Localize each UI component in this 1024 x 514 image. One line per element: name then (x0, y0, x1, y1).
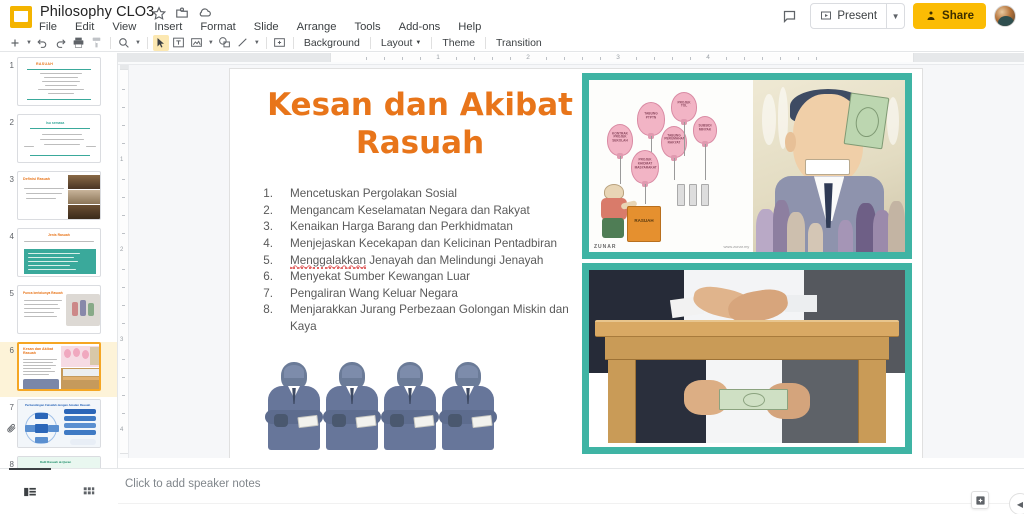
cloud-saved-icon[interactable] (198, 6, 212, 20)
star-icon[interactable] (152, 6, 166, 20)
thumbnail-number-8: 8 (0, 456, 17, 468)
corruption-cartoon-balloons: KONTRAKPROJEKSEKOLAH TABUNGPTPTN PROJEKT… (589, 80, 905, 252)
zoom-caret-icon[interactable]: ▼ (133, 40, 143, 46)
four-men-passing-money-graphic[interactable] (268, 358, 500, 450)
image-panel-bottom[interactable] (582, 263, 912, 454)
background-button[interactable]: Background (298, 36, 366, 50)
cartoon-rasuah-drum: RASUAH (627, 206, 661, 242)
list-text: Menggalakkan Jenayah dan Melindungi Jena… (290, 253, 576, 269)
image-panel-top[interactable]: KONTRAKPROJEKSEKOLAH TABUNGPTPTN PROJEKT… (582, 73, 912, 259)
background-label: Background (304, 37, 360, 49)
comment-attached-icon (6, 421, 17, 432)
share-label: Share (942, 10, 974, 22)
thumbnail-number-1: 1 (0, 57, 17, 112)
list-text: Menjarakkan Jurang Perbezaan Golongan Mi… (290, 302, 576, 334)
thumbnail-canvas-6: Kesan dan Akibat Rasuah (17, 342, 101, 391)
speaker-notes-panel[interactable]: Click to add speaker notes ◀ (118, 468, 1024, 514)
google-slides-window: Philosophy CLO3 File Edit View (0, 0, 1024, 514)
paint-format-icon[interactable] (89, 35, 105, 51)
toolbar-divider (110, 37, 111, 49)
dollar-bill (719, 389, 789, 410)
select-tool-icon[interactable] (153, 35, 169, 51)
wooden-table (595, 320, 898, 338)
thumbnail-canvas-3: Definisi Rasuah (17, 171, 101, 220)
v-ruler-tick-1: 1 (120, 157, 123, 163)
transition-label: Transition (496, 37, 542, 49)
menu-slide[interactable]: Slide (251, 20, 282, 34)
comment-history-icon[interactable] (776, 3, 802, 29)
h-ruler-tick-2: 2 (526, 54, 530, 61)
menu-insert[interactable]: Insert (151, 20, 185, 34)
top-right-actions: Present ▼ Share (776, 3, 1016, 29)
thumbnail-slide-4[interactable]: 4 Jenis Rasuah (0, 228, 117, 283)
list-text: Pengaliran Wang Keluar Negara (290, 286, 576, 302)
move-to-folder-icon[interactable] (175, 6, 189, 20)
list-number: 5. (256, 253, 290, 269)
layout-button[interactable]: Layout ▼ (375, 36, 427, 50)
present-button[interactable]: Present (811, 4, 886, 28)
thumbnail-slide-6[interactable]: 6 Kesan dan Akibat Rasuah (0, 342, 117, 397)
zunar-balloon-cartoon: KONTRAKPROJEKSEKOLAH TABUNGPTPTN PROJEKT… (589, 80, 753, 252)
theme-label: Theme (442, 37, 475, 49)
toolbar-divider-6 (431, 37, 432, 49)
thumbnail-slide-3[interactable]: 3 Definisi Rasuah (0, 171, 117, 226)
list-number: 6. (256, 269, 290, 285)
current-slide[interactable]: Kesan dan Akibat Rasuah 1. Mencetuskan P… (230, 69, 922, 458)
toolbar-divider-3 (266, 37, 267, 49)
present-screen-icon (820, 10, 832, 22)
list-item: 5. Menggalakkan Jenayah dan Melindungi J… (256, 253, 576, 269)
insert-image-icon[interactable] (189, 35, 205, 51)
cartoon-website-url: www.zunar.my (724, 244, 750, 249)
menu-file[interactable]: File (36, 20, 60, 34)
list-item: 6. Menyekat Sumber Kewangan Luar (256, 269, 576, 285)
cartoonist-signature: ZUNAR (594, 244, 617, 250)
toolbar-divider-7 (485, 37, 486, 49)
slide-canvas-area[interactable]: Kesan dan Akibat Rasuah 1. Mencetuskan P… (129, 65, 1024, 458)
list-text: Menjejaskan Kecekapan dan Kelicinan Pent… (290, 236, 576, 252)
menu-tools[interactable]: Tools (351, 20, 383, 34)
thumbnail-canvas-1: RASUAH (17, 57, 101, 106)
list-item: 3. Kenaikan Harga Barang dan Perkhidmata… (256, 219, 576, 235)
thumbnail-canvas-5: Punca berlakunya Rasuah (17, 285, 101, 334)
present-dropdown-caret-icon[interactable]: ▼ (886, 4, 904, 28)
thumbnail-slide-7[interactable]: 7 Perbandingan Falsafah dengan Amalan Ra… (0, 399, 117, 454)
h-ruler-tick-1: 1 (436, 54, 440, 61)
zoom-icon[interactable] (116, 35, 132, 51)
menu-view[interactable]: View (109, 20, 139, 34)
vertical-ruler[interactable]: 1 2 3 4 (118, 65, 129, 458)
cartoon-crowd (753, 180, 905, 252)
insert-image-caret-icon[interactable]: ▼ (206, 40, 216, 46)
thumbnail-number-2: 2 (0, 114, 17, 169)
v-ruler-tick-3: 3 (120, 337, 123, 343)
thumbnail-slide-5[interactable]: 5 Punca berlakunya Rasuah (0, 285, 117, 340)
thumbnail-number-5: 5 (0, 285, 17, 340)
slide-bullet-list[interactable]: 1. Mencetuskan Pergolakan Sosial 2. Meng… (256, 186, 576, 335)
thumbnail-slide-8[interactable]: 8 Dalil Rasuah al-Quran (0, 456, 117, 468)
list-text-rest: Jenayah dan Melindungi Jenayah (366, 254, 543, 267)
slides-app-icon (10, 6, 32, 28)
shape-icon[interactable] (217, 35, 233, 51)
share-lock-person-icon (925, 10, 937, 22)
thumbnail-slide-2[interactable]: 2 Isu semasa (0, 114, 117, 169)
new-slide-icon[interactable] (7, 35, 23, 51)
title-icon-group (152, 6, 212, 20)
menu-addons[interactable]: Add-ons (396, 20, 444, 34)
toolbar-divider-5 (370, 37, 371, 49)
v-ruler-tick-2: 2 (120, 247, 123, 253)
h-ruler-tick-4: 4 (706, 54, 710, 61)
main-toolbar: ▼ ▼ ▼ ▼ (0, 34, 1024, 52)
grid-view-icon[interactable] (59, 469, 118, 514)
present-button-group: Present ▼ (810, 3, 905, 29)
list-number: 7. (256, 286, 290, 302)
list-number: 3. (256, 219, 290, 235)
add-note-icon[interactable] (971, 491, 989, 509)
list-text: Mengancam Keselamatan Negara dan Rakyat (290, 203, 576, 219)
thumbnail-number-3: 3 (0, 171, 17, 226)
menu-help[interactable]: Help (455, 20, 484, 34)
filmstrip-view-icon[interactable] (0, 469, 59, 514)
theme-button[interactable]: Theme (436, 36, 481, 50)
list-text: Mencetuskan Pergolakan Sosial (290, 186, 576, 202)
notes-divider (118, 503, 1024, 504)
list-number: 8. (256, 302, 290, 334)
horizontal-ruler[interactable]: 1 2 3 4 (118, 53, 1024, 65)
v-ruler-tick-4: 4 (120, 427, 123, 433)
speaker-notes-placeholder[interactable]: Click to add speaker notes (125, 478, 261, 490)
share-button[interactable]: Share (913, 3, 986, 29)
text-box-icon[interactable] (171, 35, 187, 51)
handshake-bribe-under-table-photo (589, 270, 905, 447)
thumbnail-canvas-2: Isu semasa (17, 114, 101, 163)
list-number: 2. (256, 203, 290, 219)
list-text: Kenaikan Harga Barang dan Perkhidmatan (290, 219, 576, 235)
menu-arrange[interactable]: Arrange (294, 20, 340, 34)
line-icon[interactable] (235, 35, 251, 51)
menu-edit[interactable]: Edit (72, 20, 97, 34)
transition-button[interactable]: Transition (490, 36, 548, 50)
list-item: 7. Pengaliran Wang Keluar Negara (256, 286, 576, 302)
list-item: 2. Mengancam Keselamatan Negara dan Raky… (256, 203, 576, 219)
thumbnail-canvas-4: Jenis Rasuah (17, 228, 101, 277)
menu-format[interactable]: Format (197, 20, 238, 34)
top-bar: Philosophy CLO3 File Edit View (0, 0, 1024, 34)
redo-icon[interactable] (53, 35, 69, 51)
slide-filmstrip-panel[interactable]: 1 RASUAH 2 Isu semasa (0, 53, 118, 468)
slide-title[interactable]: Kesan dan Akibat Rasuah (260, 87, 580, 163)
document-title[interactable]: Philosophy CLO3 (40, 4, 154, 20)
view-mode-bar (0, 468, 118, 514)
thumbnail-canvas-8: Dalil Rasuah al-Quran (17, 456, 101, 468)
list-number: 1. (256, 186, 290, 202)
present-label: Present (837, 10, 877, 22)
spellcheck-word: Menggalakkan (290, 254, 366, 269)
toolbar-divider-4 (293, 37, 294, 49)
thumbnail-number-6: 6 (0, 342, 17, 397)
thumbnail-canvas-7: Perbandingan Falsafah dengan Amalan Rasu… (17, 399, 101, 448)
layout-caret-icon: ▼ (415, 40, 421, 46)
politician-money-cartoon (753, 80, 905, 252)
new-slide-caret-icon[interactable]: ▼ (24, 40, 34, 46)
h-ruler-tick-3: 3 (616, 54, 620, 61)
thumbnail-number-4: 4 (0, 228, 17, 283)
list-text: Menyekat Sumber Kewangan Luar (290, 269, 576, 285)
menu-bar: File Edit View Insert Format Slide Arran… (36, 20, 484, 34)
undo-icon[interactable] (35, 35, 51, 51)
list-item: 4. Menjejaskan Kecekapan dan Kelicinan P… (256, 236, 576, 252)
list-item: 1. Mencetuskan Pergolakan Sosial (256, 186, 576, 202)
line-caret-icon[interactable]: ▼ (252, 40, 262, 46)
layout-label: Layout (381, 37, 413, 49)
cartoon-man-figure (599, 184, 629, 238)
list-number: 4. (256, 236, 290, 252)
list-item: 8. Menjarakkan Jurang Perbezaan Golongan… (256, 302, 576, 334)
chevron-left-icon[interactable]: ◀ (1009, 493, 1024, 514)
print-icon[interactable] (71, 35, 87, 51)
thumbnail-slide-1[interactable]: 1 RASUAH (0, 57, 117, 112)
comment-add-icon[interactable] (272, 35, 288, 51)
user-avatar[interactable] (994, 5, 1016, 27)
toolbar-divider-2 (147, 37, 148, 49)
